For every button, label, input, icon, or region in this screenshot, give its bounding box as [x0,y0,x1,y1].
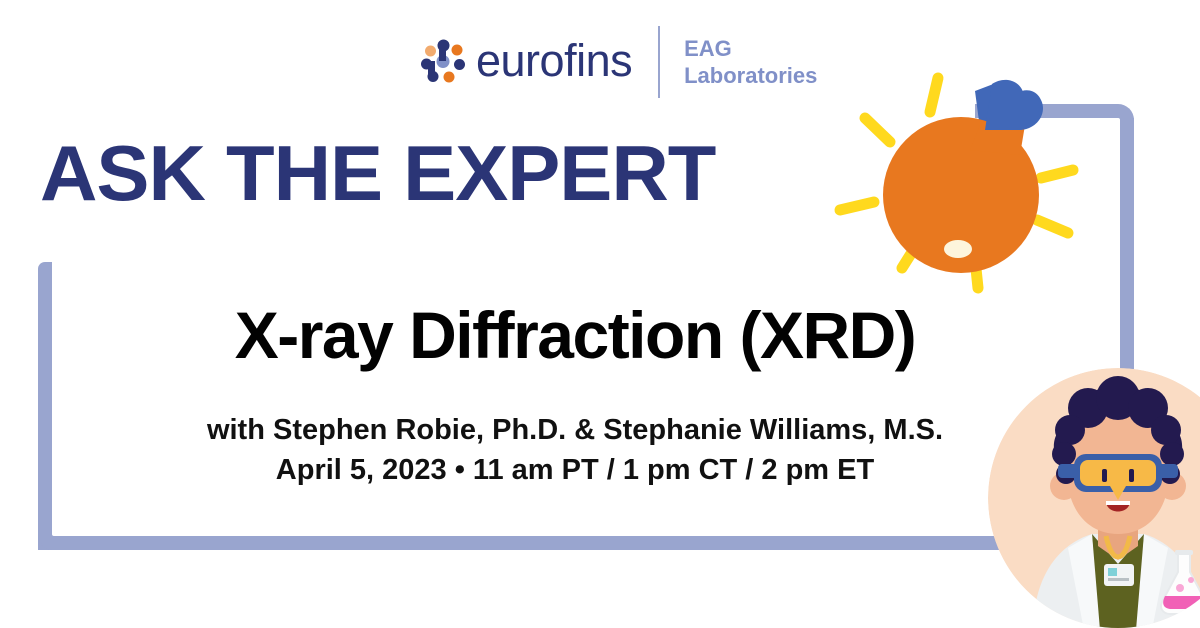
eurofins-wordmark: eurofins [476,38,632,87]
eag-laboratories-label: EAG Laboratories [684,35,817,90]
scientist-avatar [988,368,1200,628]
webinar-promo-poster: eurofins EAG Laboratories ASK TH [0,0,1200,628]
eurofins-logo-lockup: eurofins EAG Laboratories [420,22,817,102]
lightbulb-icon [820,55,1090,295]
datetime-line: April 5, 2023 • 11 am PT / 1 pm CT / 2 p… [0,452,1150,488]
presenters-line: with Stephen Robie, Ph.D. & Stephanie Wi… [0,412,1150,448]
eurofins-dot-cluster-icon [420,39,466,85]
eag-line1: EAG [684,35,817,63]
webinar-topic: X-ray Diffraction (XRD) [0,302,1150,368]
frame-bottom-left-corner [38,520,68,550]
page-title: ASK THE EXPERT [40,134,715,212]
logo-divider [658,26,660,98]
eag-line2: Laboratories [684,62,817,90]
